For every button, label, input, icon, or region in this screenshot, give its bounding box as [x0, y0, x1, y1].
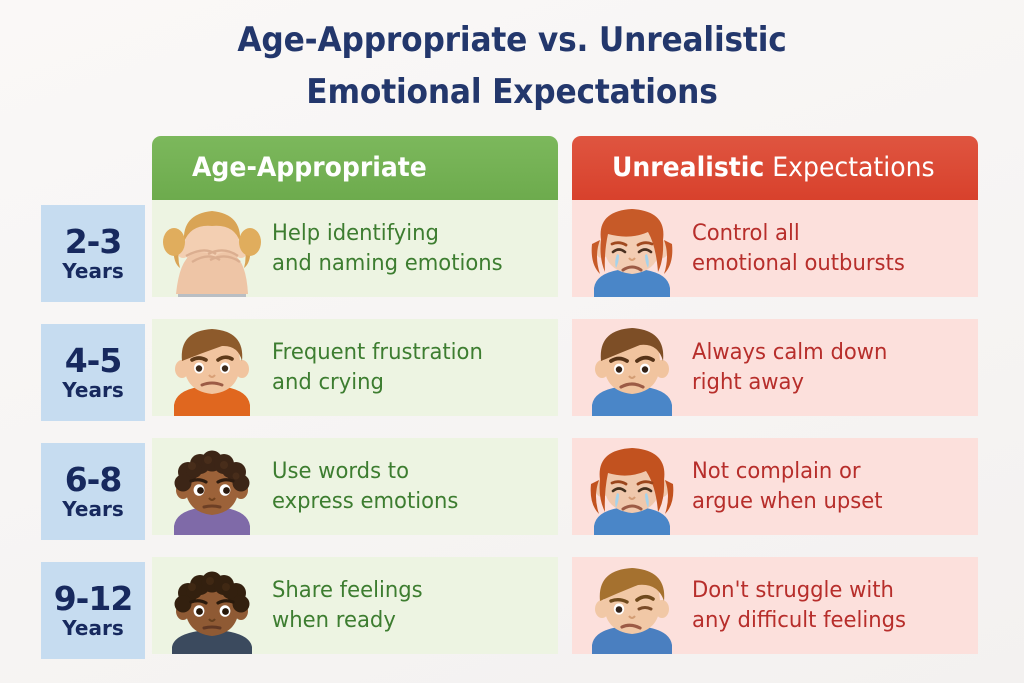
row-text: Use words to express emotions	[272, 457, 468, 517]
age-appropriate-header: Age-Appropriate	[152, 136, 558, 200]
row-text: Share feelings when ready	[272, 576, 432, 636]
age-range-label: 6-8	[65, 463, 122, 497]
row-text: Control all emotional outbursts	[692, 219, 914, 279]
row-text: Not complain or argue when upset	[692, 457, 892, 517]
age-appropriate-header-label: Age-Appropriate	[192, 153, 427, 183]
row-text-line-2: when ready	[272, 606, 423, 636]
redhead-girl-tearful-portrait	[572, 438, 692, 535]
unrealistic-header-strong: Unrealistic	[612, 152, 764, 183]
row-text-line-2: right away	[692, 368, 887, 398]
row-text-line-1: Not complain or	[692, 457, 883, 487]
table-row: Don't struggle with any difficult feelin…	[572, 557, 978, 654]
age-unit-label: Years	[62, 616, 123, 640]
table-row: Always calm down right away	[572, 319, 978, 416]
age-appropriate-rows: Help identifying and naming emotions	[152, 200, 558, 654]
age-badge: 6-8 Years	[41, 443, 145, 540]
row-text-line-1: Always calm down	[692, 338, 887, 368]
row-text-line-2: express emotions	[272, 487, 458, 517]
row-text-line-1: Don't struggle with	[692, 576, 906, 606]
row-text-line-1: Use words to	[272, 457, 458, 487]
row-text-line-1: Help identifying	[272, 219, 503, 249]
title-line-2: Emotional Expectations	[41, 66, 983, 118]
table-row: Frequent frustration and crying	[152, 319, 558, 416]
brown-hair-boy-angry-blue-shirt-portrait	[572, 319, 692, 416]
row-text-line-2: emotional outbursts	[692, 249, 905, 279]
infographic-canvas: Age-Appropriate vs. Unrealistic Emotiona…	[0, 0, 1024, 683]
row-text-line-2: argue when upset	[692, 487, 883, 517]
row-text-line-2: and naming emotions	[272, 249, 503, 279]
blonde-girl-covering-eyes-portrait	[152, 200, 272, 297]
unrealistic-header-label: Unrealistic Expectations	[612, 153, 935, 183]
row-text: Don't struggle with any difficult feelin…	[692, 576, 916, 636]
table-row: Share feelings when ready	[152, 557, 558, 654]
brown-hair-boy-angry-portrait	[152, 319, 272, 416]
row-text-line-1: Control all	[692, 219, 905, 249]
row-text-line-2: any difficult feelings	[692, 606, 906, 636]
row-text: Frequent frustration and crying	[272, 338, 492, 398]
age-badge-column: 2-3 Years 4-5 Years 6-8 Years 9-12 Years	[41, 205, 145, 681]
age-unit-label: Years	[62, 497, 123, 521]
row-text-line-1: Share feelings	[272, 576, 423, 606]
age-unit-label: Years	[62, 259, 123, 283]
unrealistic-expectations-header: Unrealistic Expectations	[572, 136, 978, 200]
table-row: Help identifying and naming emotions	[152, 200, 558, 297]
age-appropriate-column: Age-Appropriate	[152, 136, 558, 654]
table-row: Control all emotional outbursts	[572, 200, 978, 297]
row-text-line-1: Frequent frustration	[272, 338, 483, 368]
age-badge: 4-5 Years	[41, 324, 145, 421]
page-title: Age-Appropriate vs. Unrealistic Emotiona…	[0, 14, 1024, 118]
table-row: Not complain or argue when upset	[572, 438, 978, 535]
age-badge: 9-12 Years	[41, 562, 145, 659]
dark-skin-boy-curly-hair-portrait	[152, 438, 272, 535]
row-text: Help identifying and naming emotions	[272, 219, 512, 279]
redhead-girl-crying-portrait	[572, 200, 692, 297]
brown-hair-boy-smirking-portrait	[572, 557, 692, 654]
row-text-line-2: and crying	[272, 368, 483, 398]
unrealistic-header-light: Expectations	[772, 152, 934, 183]
unrealistic-expectations-column: Unrealistic Expectations	[572, 136, 978, 654]
row-text: Always calm down right away	[692, 338, 897, 398]
age-badge: 2-3 Years	[41, 205, 145, 302]
title-line-1: Age-Appropriate vs. Unrealistic	[41, 14, 983, 66]
age-range-label: 2-3	[65, 225, 122, 259]
age-unit-label: Years	[62, 378, 123, 402]
table-row: Use words to express emotions	[152, 438, 558, 535]
unrealistic-rows: Control all emotional outbursts	[572, 200, 978, 654]
age-range-label: 9-12	[54, 582, 133, 616]
age-range-label: 4-5	[65, 344, 122, 378]
dark-skin-child-curly-hair-portrait	[152, 557, 272, 654]
